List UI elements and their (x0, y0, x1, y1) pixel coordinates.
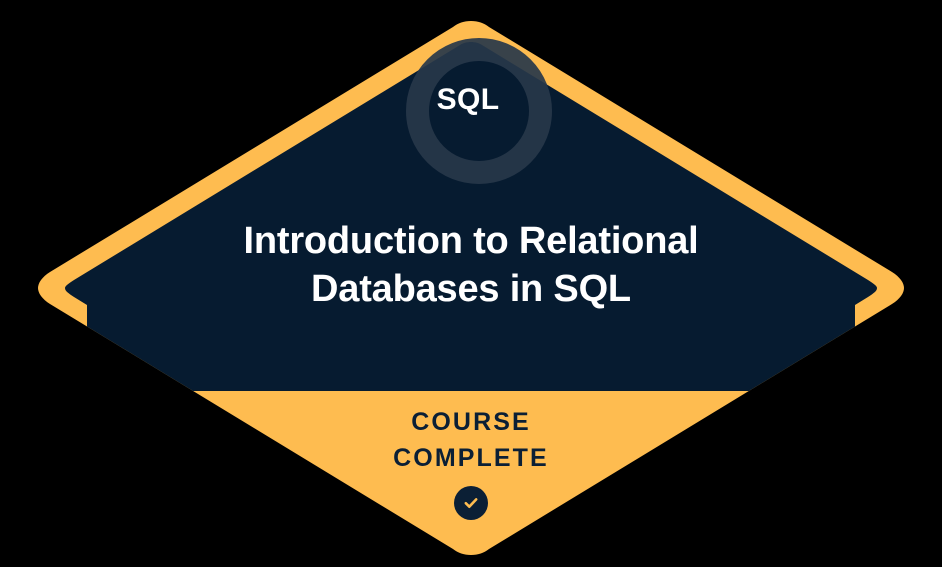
badge-diamond-shape (0, 0, 942, 567)
diamond-navy-fill (65, 42, 877, 391)
course-completion-badge: SQL Introduction to Relational Databases… (0, 0, 942, 567)
